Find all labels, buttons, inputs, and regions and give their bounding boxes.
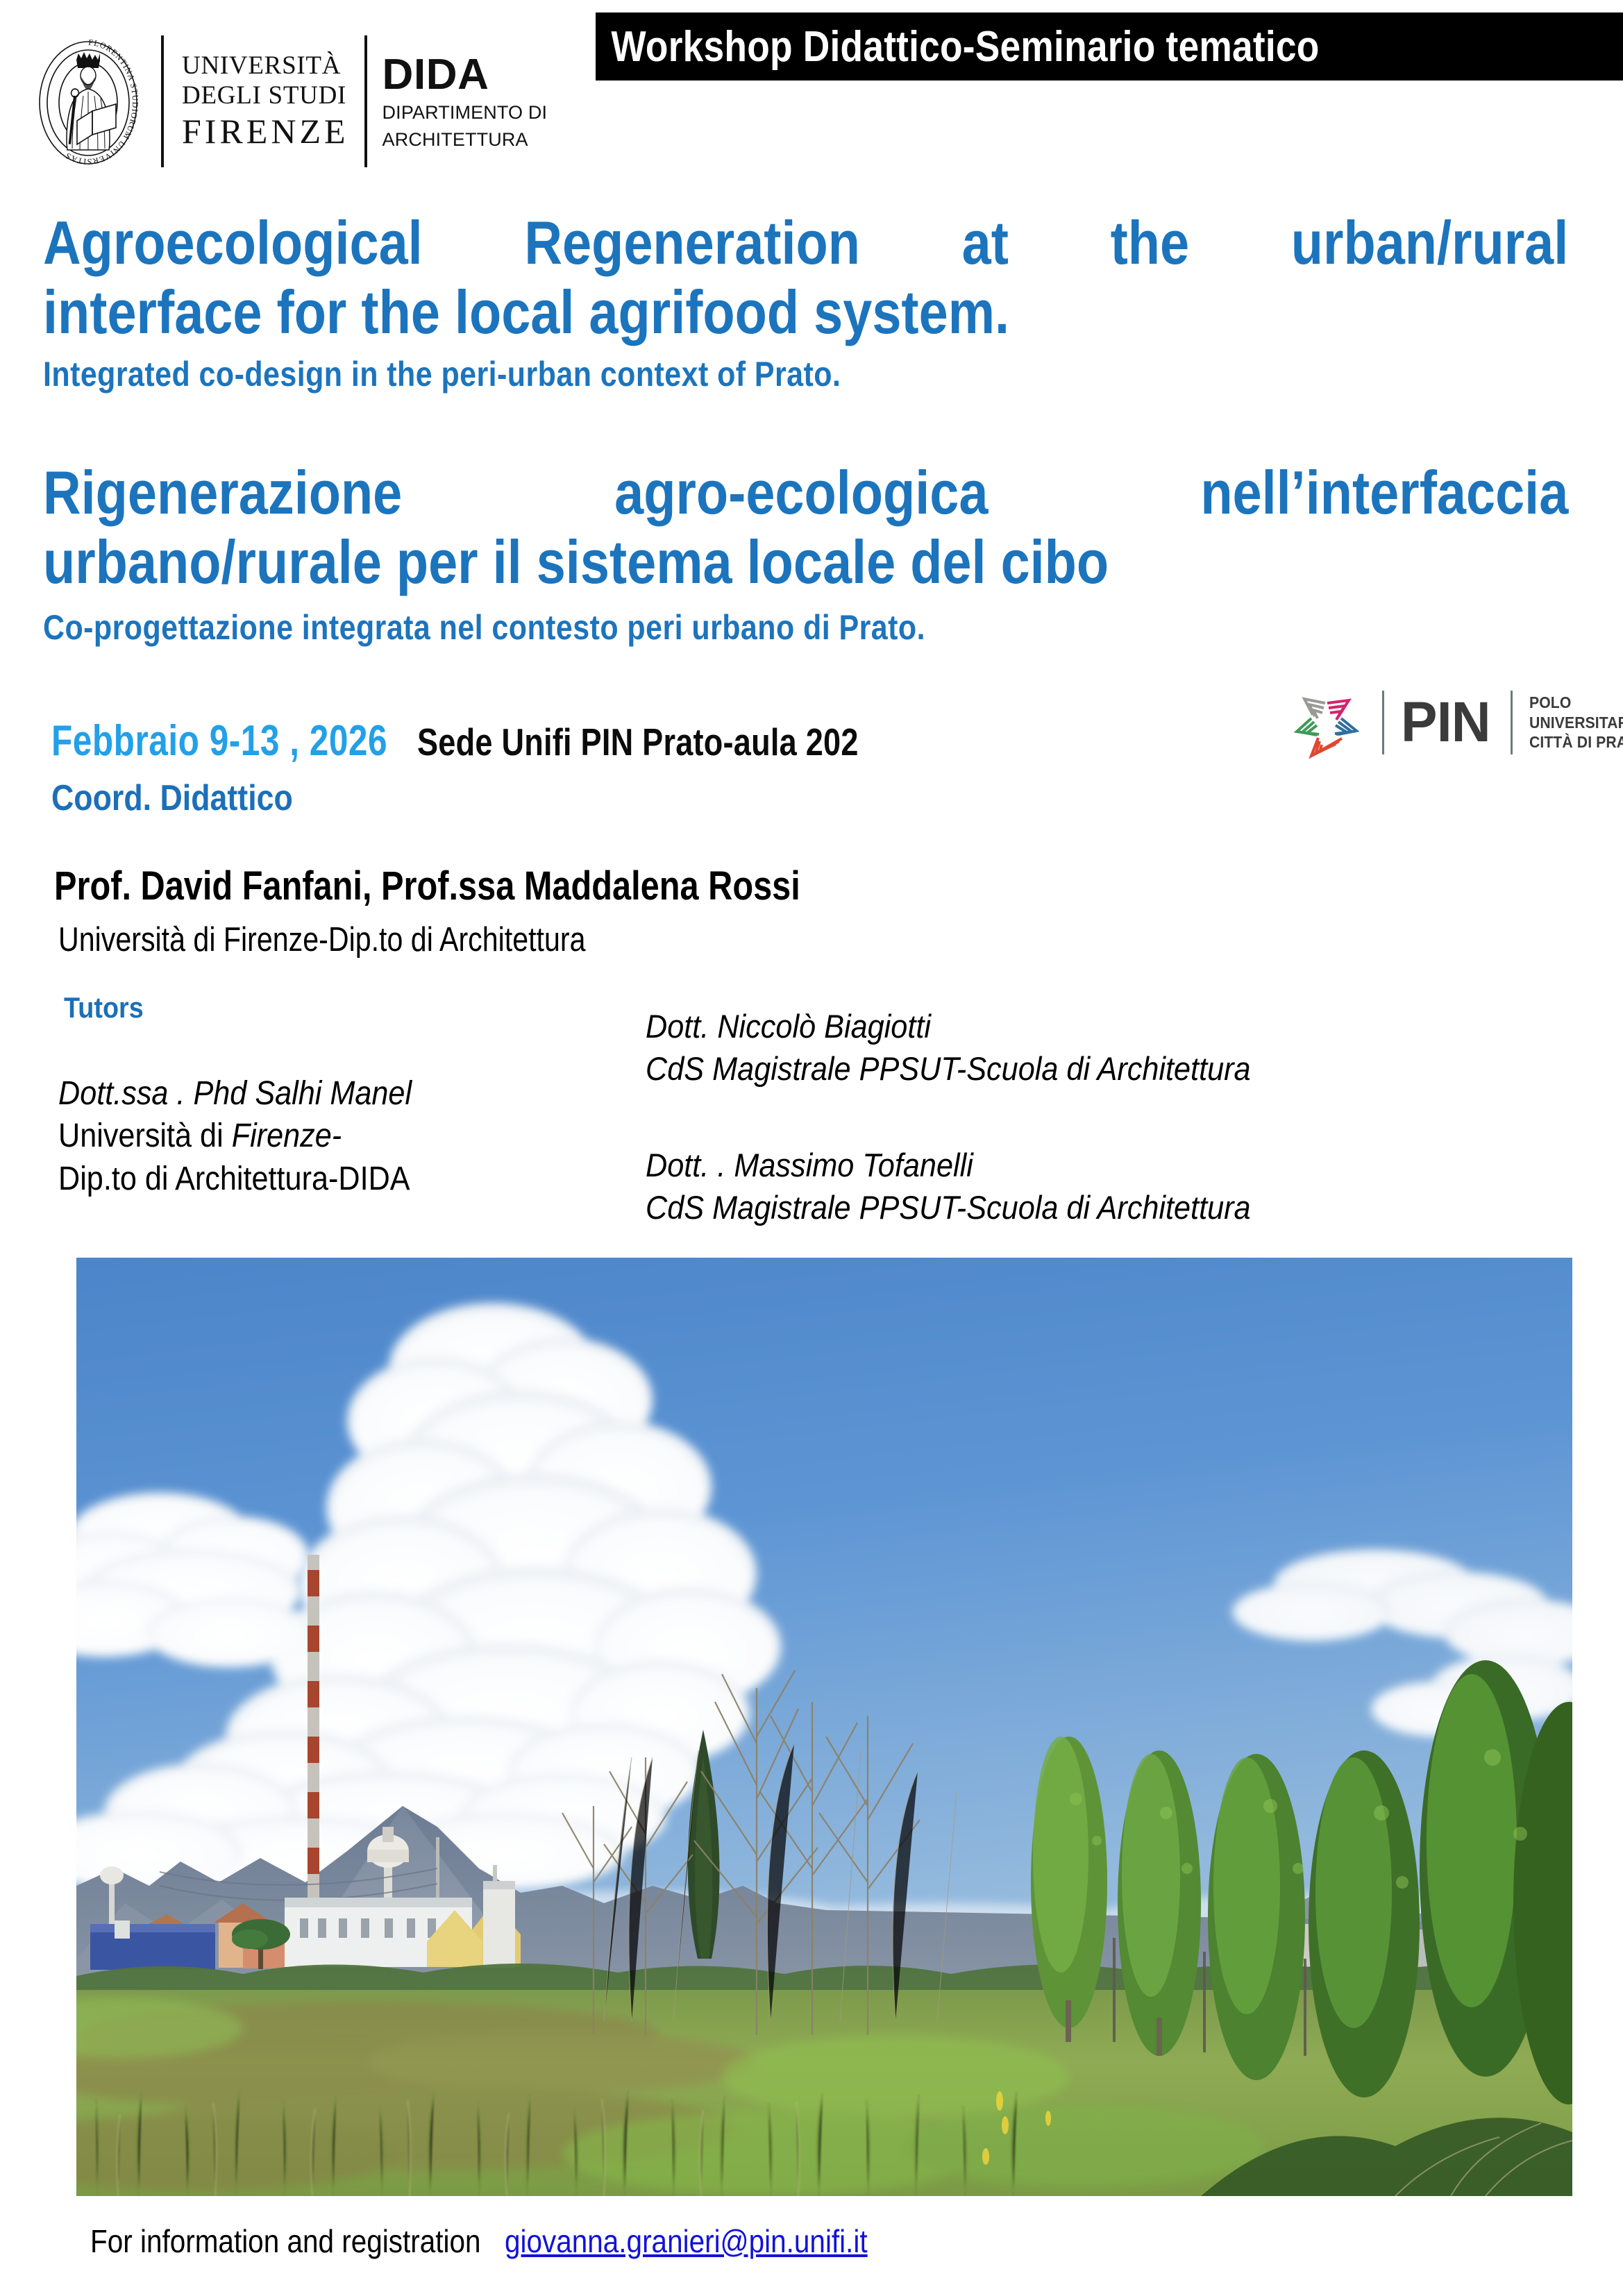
pin-wordmark: PIN [1401,694,1490,751]
tutor-right-1-name: Dott. Niccolò Biagiotti [646,1005,1444,1047]
tutor-right-1-affiliation: CdS Magistrale PPSUT-Scuola di Architett… [646,1047,1444,1090]
tutor-right-2-name: Dott. . Massimo Tofanelli [646,1144,1444,1186]
dida-sub-line-1: DIPARTIMENTO DI [382,101,548,124]
title-english-line-1: Agroecological Regeneration at the urban… [43,208,1568,278]
title-italian-line-1: Rigenerazione agro-ecologica nell’interf… [43,458,1568,527]
pin-sub-line-1: POLO [1529,693,1623,713]
logo-divider-2 [364,35,367,167]
unifi-seal-icon: FLORENTINA STUDIORUM UNIVERSITAS [26,33,150,169]
title-italian-line-2: urbano/rurale per il sistema locale del … [43,527,1568,597]
unifi-dida-logo-lockup: FLORENTINA STUDIORUM UNIVERSITAS UNIVERS… [26,32,547,171]
workshop-banner: Workshop Didattico-Seminario tematico [596,12,1623,81]
pin-divider-2 [1511,691,1513,754]
logo-divider-1 [161,35,164,167]
pin-subtitle: POLO UNIVERSITARIO CITTÀ DI PRATO [1529,693,1623,753]
dida-wordmark: DIDA DIPARTIMENTO DI ARCHITETTURA [382,52,548,151]
coordinator-affiliation: Università di Firenze-Dip.to di Architet… [58,920,585,959]
coordination-label: Coord. Didattico [51,777,293,819]
title-english: Agroecological Regeneration at the urban… [43,208,1568,348]
tutor-right-2-affiliation: CdS Magistrale PPSUT-Scuola di Architett… [646,1186,1444,1229]
tutor-left-block: Dott.ssa . Phd Salhi Manel Università di… [58,1072,683,1200]
tutors-label: Tutors [64,991,144,1024]
pin-divider-1 [1382,691,1384,754]
dida-acronym: DIDA [382,52,548,97]
event-venue: Sede Unifi PIN Prato-aula 202 [417,720,859,764]
event-dateline: Febbraio 9-13 , 2026 Sede Unifi PIN Prat… [51,716,955,766]
pin-sub-line-3: CITTÀ DI PRATO [1529,732,1623,752]
pin-star-icon [1288,685,1365,760]
subtitle-italian: Co-progettazione integrata nel contesto … [43,607,925,648]
tutor-left-affiliation-line-2: Dip.to di Architettura-DIDA [58,1158,621,1200]
unifi-line-3: FIRENZE [182,111,349,151]
poster-header: FLORENTINA STUDIORUM UNIVERSITAS UNIVERS… [0,0,1623,194]
tutor-left-name: Dott.ssa . Phd Salhi Manel [58,1072,621,1115]
dida-sub-line-2: ARCHITETTURA [382,128,548,151]
pin-logo-lockup: PIN POLO UNIVERSITARIO CITTÀ DI PRATO [1288,684,1623,761]
unifi-line-2: DEGLI STUDI [182,81,349,111]
pin-sub-line-2: UNIVERSITARIO [1529,713,1623,733]
landscape-photo-illustration [76,1258,1572,2196]
coordinator-names: Prof. David Fanfani, Prof.ssa Maddalena … [54,863,800,909]
tutor-left-aff-italic: Firenze- [232,1117,342,1154]
tutor-left-aff-plain: Università di [58,1117,232,1154]
event-date: Febbraio 9-13 , 2026 [51,716,387,766]
title-english-line-2: interface for the local agrifood system. [43,278,1568,347]
title-italian: Rigenerazione agro-ecologica nell’interf… [43,458,1568,598]
tutor-left-affiliation-line-1: Università di Firenze- [58,1115,621,1157]
tutor-right-block-1: Dott. Niccolò Biagiotti CdS Magistrale P… [646,1005,1513,1090]
workshop-banner-text: Workshop Didattico-Seminario tematico [596,22,1320,71]
unifi-line-1: UNIVERSITÀ [182,51,349,81]
footer-text: For information and registration [90,2222,480,2260]
poster-root: FLORENTINA STUDIORUM UNIVERSITAS UNIVERS… [0,0,1623,2296]
unifi-wordmark: UNIVERSITÀ DEGLI STUDI FIRENZE [182,51,349,151]
footer-email-link[interactable]: giovanna.granieri@pin.unifi.it [505,2222,868,2260]
subtitle-english: Integrated co-design in the peri-urban c… [43,354,841,394]
landscape-photo [76,1258,1572,2196]
tutor-right-block-2: Dott. . Massimo Tofanelli CdS Magistrale… [646,1144,1513,1229]
footer-contact: For information and registration giovann… [90,2222,917,2260]
